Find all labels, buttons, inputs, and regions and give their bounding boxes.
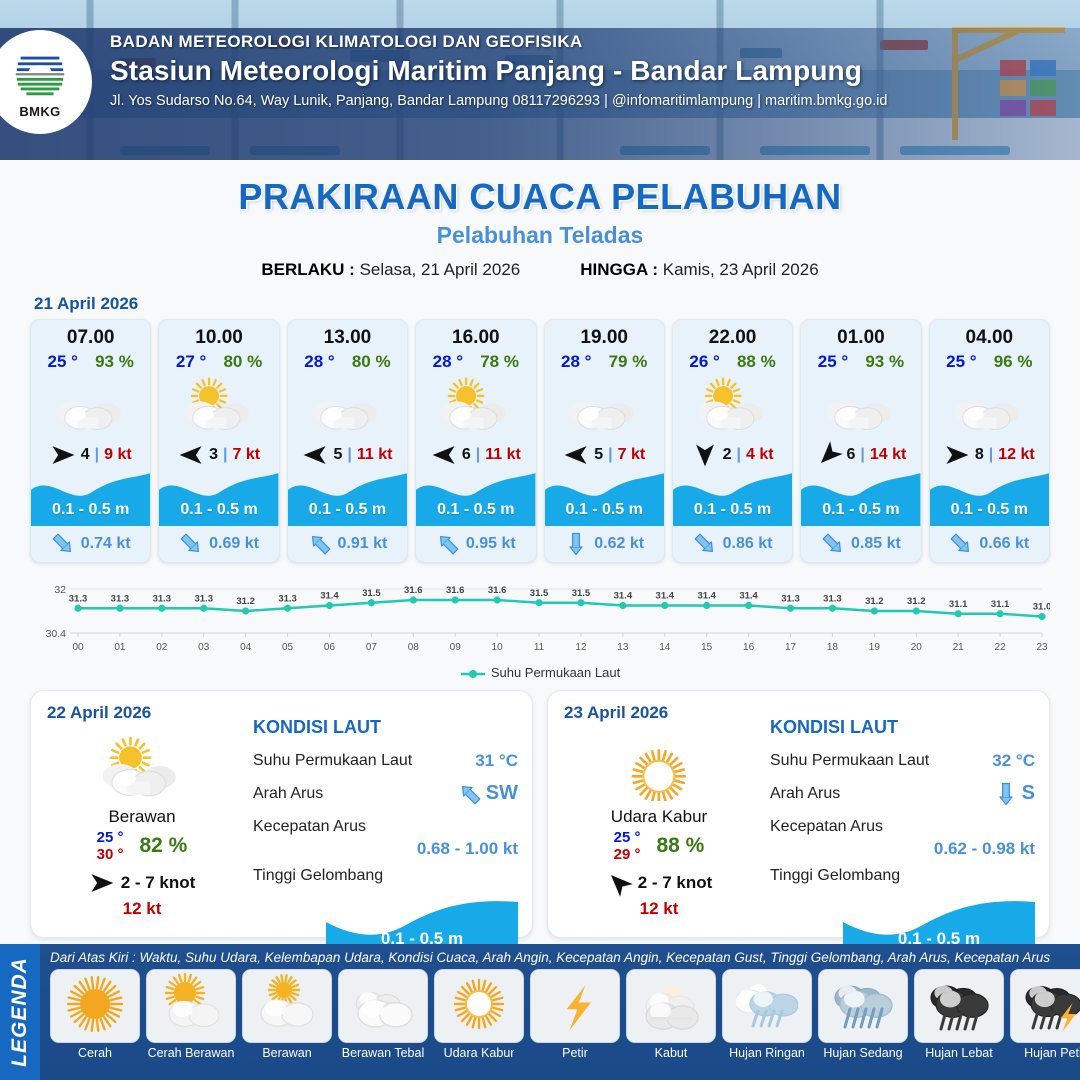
card-humidity: 93 % xyxy=(95,352,134,372)
card-time: 16.00 xyxy=(416,320,535,349)
panel-gust: 12 kt xyxy=(47,899,237,919)
panel-summary: Berawan 25 ° 30 ° 82 % 2 - 7 knot 12 kt xyxy=(47,731,237,919)
card-gust-speed: 7 kt xyxy=(618,446,646,464)
card-current-speed: 0.69 kt xyxy=(209,535,259,553)
card-wave-area: 0.1 - 0.5 m xyxy=(930,472,1049,526)
sst-data-point xyxy=(158,605,165,612)
sst-data-label: 31.3 xyxy=(153,593,172,604)
panel-temp-humidity-row: 25 ° 30 ° 82 % xyxy=(47,829,237,864)
legend-item: Cerah Berawan xyxy=(146,969,236,1060)
sst-data-point xyxy=(326,602,333,609)
card-gust-speed: 4 kt xyxy=(746,446,774,464)
valid-to-label: HINGGA : xyxy=(580,260,658,279)
card-values: 25 ° 93 % xyxy=(801,349,920,372)
card-wind-speed: 6 xyxy=(847,446,856,464)
weather-icon-cloudy xyxy=(49,376,133,434)
legend-item-icon-box xyxy=(626,969,716,1043)
sst-data-point xyxy=(116,605,123,612)
sst-data-label: 31.3 xyxy=(111,593,130,604)
panel-sst-value: 32 °C xyxy=(992,751,1035,771)
weather-icon-partly-cloudy xyxy=(177,376,261,434)
card-wind-row: 6 | 14 kt xyxy=(801,438,920,472)
card-current-speed: 0.66 kt xyxy=(979,535,1029,553)
panel-current-speed-value-row: 0.68 - 1.00 kt xyxy=(253,839,518,859)
page-header: BMKG BADAN METEOROLOGI KLIMATOLOGI DAN G… xyxy=(0,0,1080,160)
card-wind-speed: 5 xyxy=(594,446,603,464)
card-wave-height: 0.1 - 0.5 m xyxy=(416,501,535,519)
sst-data-point xyxy=(74,605,81,612)
card-wave-area: 0.1 - 0.5 m xyxy=(288,472,407,526)
sst-data-point xyxy=(577,599,584,606)
station-contact: Jl. Yos Sudarso No.64, Way Lunik, Panjan… xyxy=(110,93,888,109)
panel-temperatures: 25 ° 29 ° xyxy=(614,829,641,864)
panel-section-title: KONDISI LAUT xyxy=(770,717,1035,738)
card-wave-area: 0.1 - 0.5 m xyxy=(159,472,278,526)
card-wind-speed: 6 xyxy=(462,446,471,464)
card-weather-icon xyxy=(930,372,1049,438)
x-axis-tick: 14 xyxy=(659,642,671,653)
card-current-row: 0.86 kt xyxy=(673,526,792,562)
card-humidity: 88 % xyxy=(737,352,776,372)
valid-from-value: Selasa, 21 April 2026 xyxy=(360,260,521,279)
x-axis-tick: 18 xyxy=(827,642,839,653)
agency-name: BADAN METEOROLOGI KLIMATOLOGI DAN GEOFIS… xyxy=(110,32,888,52)
card-humidity: 79 % xyxy=(609,352,648,372)
sst-data-point xyxy=(996,610,1003,617)
legend-item-icon-box xyxy=(722,969,812,1043)
separator: | xyxy=(608,446,612,464)
legend-line-marker-icon xyxy=(460,668,486,680)
legend-icon-clouds xyxy=(352,973,414,1040)
legend-item: Hujan Sedang xyxy=(818,969,908,1060)
card-current-speed: 0.91 kt xyxy=(338,535,388,553)
sst-data-label: 31.2 xyxy=(907,596,926,607)
card-weather-icon xyxy=(288,372,407,438)
panel-current-speed-value-row: 0.62 - 0.98 kt xyxy=(770,839,1035,859)
forecast-card[interactable]: 19.00 28 ° 79 % 5 | 7 kt 0.1 - 0.5 m 0.6… xyxy=(544,319,665,563)
legend-item-icon-box xyxy=(242,969,332,1043)
weather-icon-cloudy xyxy=(819,376,903,434)
legend-icon-rain-light xyxy=(736,973,798,1040)
sst-line xyxy=(78,600,1042,617)
card-wind-row: 8 | 12 kt xyxy=(930,438,1049,472)
forecast-date-label: 21 April 2026 xyxy=(34,294,1080,314)
wind-direction-arrow-icon xyxy=(431,442,457,468)
card-air-temperature: 27 ° xyxy=(176,352,206,372)
card-wind-speed: 3 xyxy=(209,446,218,464)
legend-icon-sun xyxy=(64,973,126,1040)
sst-data-label: 31.0 xyxy=(1033,602,1050,613)
forecast-card[interactable]: 10.00 27 ° 80 % 3 | 7 kt 0.1 - 0.5 m 0.6… xyxy=(158,319,279,563)
card-time: 13.00 xyxy=(288,320,407,349)
y-axis-tick-min: 30.4 xyxy=(46,628,67,640)
card-time: 01.00 xyxy=(801,320,920,349)
separator: | xyxy=(860,446,864,464)
separator: | xyxy=(736,446,740,464)
legend-item-icon-box xyxy=(818,969,908,1043)
legend-item-list: Cerah Cerah Berawan Berawan Berawan Teba… xyxy=(50,969,1080,1060)
card-humidity: 80 % xyxy=(352,352,391,372)
panel-current-speed-label: Kecepatan Arus xyxy=(253,818,366,836)
y-axis-tick-max: 32 xyxy=(54,584,66,596)
card-wind-speed: 5 xyxy=(333,446,342,464)
current-direction-arrow-icon xyxy=(816,527,850,561)
panel-sea-conditions: KONDISI LAUT Suhu Permukaan Laut 32 °C A… xyxy=(770,717,1035,892)
card-current-speed: 0.86 kt xyxy=(723,535,773,553)
panel-section-title: KONDISI LAUT xyxy=(253,717,518,738)
panel-current-direction-value: SW xyxy=(486,782,518,805)
x-axis-tick: 05 xyxy=(282,642,294,653)
card-wind-row: 5 | 7 kt xyxy=(545,438,664,472)
card-air-temperature: 25 ° xyxy=(818,352,848,372)
validity-row: BERLAKU : Selasa, 21 April 2026 HINGGA :… xyxy=(0,260,1080,280)
legend-item-icon-box xyxy=(434,969,524,1043)
card-current-row: 0.91 kt xyxy=(288,526,407,562)
weather-icon-partly-cloudy xyxy=(434,376,518,434)
legend-icon-cloud-sun-small xyxy=(256,973,318,1040)
legend-item-label: Hujan Ringan xyxy=(722,1046,812,1060)
forecast-card[interactable]: 16.00 28 ° 78 % 6 | 11 kt 0.1 - 0.5 m 0.… xyxy=(415,319,536,563)
card-weather-icon xyxy=(416,372,535,438)
panel-current-direction-value-group: SW xyxy=(458,782,518,806)
sst-data-label: 31.3 xyxy=(69,593,88,604)
sst-data-point xyxy=(200,605,207,612)
legend-item-label: Udara Kabur xyxy=(434,1046,524,1060)
valid-to: HINGGA : Kamis, 23 April 2026 xyxy=(580,260,818,280)
legend-icon-bolt xyxy=(544,973,606,1040)
card-gust-speed: 7 kt xyxy=(232,446,260,464)
current-direction-arrow-icon xyxy=(303,527,337,561)
panel-weather-icon xyxy=(564,731,754,805)
panel-wind-row: 2 - 7 knot xyxy=(47,870,237,896)
sst-data-label: 31.1 xyxy=(949,599,968,610)
card-humidity: 96 % xyxy=(994,352,1033,372)
card-wind-row: 4 | 9 kt xyxy=(31,438,150,472)
sst-data-label: 31.4 xyxy=(656,591,675,602)
forecast-card-list: 07.00 25 ° 93 % 4 | 9 kt 0.1 - 0.5 m 0.7… xyxy=(0,319,1080,563)
legend-item-label: Hujan Sedang xyxy=(818,1046,908,1060)
sst-data-label: 31.3 xyxy=(278,593,297,604)
sst-data-label: 31.6 xyxy=(488,585,507,596)
legend-item-label: Cerah Berawan xyxy=(146,1046,236,1060)
card-gust-speed: 12 kt xyxy=(998,446,1034,464)
card-gust-speed: 11 kt xyxy=(357,446,393,464)
legend-note: Dari Atas Kiri : Waktu, Suhu Udara, Kele… xyxy=(50,950,1080,965)
day-panel-list: 22 April 2026 Berawan 25 ° 30 ° 82 % 2 -… xyxy=(0,680,1080,938)
card-gust-speed: 14 kt xyxy=(870,446,906,464)
legend-item-icon-box xyxy=(914,969,1004,1043)
title-block: PRAKIRAAN CUACA PELABUHAN Pelabuhan Tela… xyxy=(0,160,1080,280)
card-wind-row: 3 | 7 kt xyxy=(159,438,278,472)
legend-strip-title: LEGENDA xyxy=(8,957,32,1067)
legend-item: Berawan Tebal xyxy=(338,969,428,1060)
x-axis-tick: 04 xyxy=(240,642,252,653)
panel-sst-row: Suhu Permukaan Laut 32 °C xyxy=(770,744,1035,777)
panel-sea-conditions: KONDISI LAUT Suhu Permukaan Laut 31 °C A… xyxy=(253,717,518,892)
current-direction-arrow-icon xyxy=(453,777,487,811)
x-axis-tick: 23 xyxy=(1036,642,1048,653)
separator: | xyxy=(347,446,351,464)
legend-item-label: Kabut xyxy=(626,1046,716,1060)
card-time: 22.00 xyxy=(673,320,792,349)
sst-data-point xyxy=(829,605,836,612)
panel-wave-row: Tinggi Gelombang xyxy=(253,859,518,892)
forecast-card[interactable]: 04.00 25 ° 96 % 8 | 12 kt 0.1 - 0.5 m 0.… xyxy=(929,319,1050,563)
current-direction-arrow-icon xyxy=(431,527,465,561)
legend-item: Hujan Petir xyxy=(1010,969,1080,1060)
wind-direction-arrow-icon xyxy=(178,442,204,468)
sst-data-label: 31.1 xyxy=(991,599,1010,610)
legend-strip: LEGENDA xyxy=(0,944,40,1080)
sst-data-point xyxy=(242,607,249,614)
panel-humidity: 88 % xyxy=(656,834,704,858)
separator: | xyxy=(223,446,227,464)
panel-humidity: 82 % xyxy=(139,834,187,858)
sst-data-label: 31.5 xyxy=(362,588,381,599)
panel-temp-max: 30 ° xyxy=(97,846,124,863)
sst-data-point xyxy=(955,610,962,617)
separator: | xyxy=(95,446,99,464)
card-wind-speed: 4 xyxy=(81,446,90,464)
card-wave-height: 0.1 - 0.5 m xyxy=(545,501,664,519)
card-weather-icon xyxy=(801,372,920,438)
sst-data-label: 31.5 xyxy=(530,588,549,599)
forecast-card[interactable]: 07.00 25 ° 93 % 4 | 9 kt 0.1 - 0.5 m 0.7… xyxy=(30,319,151,563)
sst-data-label: 31.4 xyxy=(614,591,633,602)
current-direction-arrow-icon xyxy=(944,527,978,561)
panel-current-speed-value: 0.62 - 0.98 kt xyxy=(934,839,1035,859)
card-current-speed: 0.74 kt xyxy=(81,535,131,553)
sst-data-label: 31.3 xyxy=(194,593,213,604)
x-axis-tick: 01 xyxy=(114,642,126,653)
sst-data-label: 31.6 xyxy=(404,585,423,596)
sst-chart-plot: 3230.40001020304050607080910111213141516… xyxy=(30,573,1050,655)
x-axis-tick: 20 xyxy=(911,642,923,653)
panel-gust: 12 kt xyxy=(564,899,754,919)
weather-icon-cloudy xyxy=(947,376,1031,434)
valid-from-label: BERLAKU : xyxy=(261,260,355,279)
bmkg-logo-text: BMKG xyxy=(19,104,60,119)
header-text-block: BADAN METEOROLOGI KLIMATOLOGI DAN GEOFIS… xyxy=(110,32,888,109)
sst-data-label: 31.4 xyxy=(320,591,339,602)
card-humidity: 78 % xyxy=(480,352,519,372)
card-air-temperature: 26 ° xyxy=(689,352,719,372)
legend-item-label: Petir xyxy=(530,1046,620,1060)
panel-temp-min: 25 ° xyxy=(614,829,641,846)
x-axis-tick: 15 xyxy=(701,642,713,653)
panel-wave-label: Tinggi Gelombang xyxy=(770,867,900,885)
card-wind-row: 2 | 4 kt xyxy=(673,438,792,472)
card-values: 28 ° 80 % xyxy=(288,349,407,372)
wind-direction-arrow-icon xyxy=(563,442,589,468)
x-axis-tick: 03 xyxy=(198,642,210,653)
card-current-speed: 0.62 kt xyxy=(594,535,644,553)
panel-current-direction-value-group: S xyxy=(994,782,1035,806)
legend-item-label: Hujan Lebat xyxy=(914,1046,1004,1060)
x-axis-tick: 10 xyxy=(492,642,504,653)
legend-icon-sun-cloud xyxy=(160,973,222,1040)
sst-data-label: 31.3 xyxy=(781,593,800,604)
valid-to-value: Kamis, 23 April 2026 xyxy=(663,260,819,279)
day-forecast-panel[interactable]: 23 April 2026 Udara Kabur 25 ° 29 ° 88 %… xyxy=(547,690,1050,938)
card-time: 04.00 xyxy=(930,320,1049,349)
sst-data-point xyxy=(1038,613,1045,620)
legend-item-icon-box xyxy=(146,969,236,1043)
legend-item: Udara Kabur xyxy=(434,969,524,1060)
current-direction-arrow-icon xyxy=(46,527,80,561)
card-air-temperature: 28 ° xyxy=(561,352,591,372)
card-current-row: 0.62 kt xyxy=(545,526,664,562)
day-forecast-panel[interactable]: 22 April 2026 Berawan 25 ° 30 ° 82 % 2 -… xyxy=(30,690,533,938)
wind-direction-arrow-icon xyxy=(810,437,847,474)
panel-wave-row: Tinggi Gelombang xyxy=(770,859,1035,892)
card-humidity: 93 % xyxy=(865,352,904,372)
panel-current-speed-value: 0.68 - 1.00 kt xyxy=(417,839,518,859)
panel-temp-humidity-row: 25 ° 29 ° 88 % xyxy=(564,829,754,864)
x-axis-tick: 06 xyxy=(324,642,336,653)
current-direction-arrow-icon xyxy=(564,532,588,556)
sst-data-label: 31.2 xyxy=(865,596,884,607)
sst-data-point xyxy=(745,602,752,609)
current-direction-arrow-icon xyxy=(688,527,722,561)
panel-sst-label: Suhu Permukaan Laut xyxy=(770,752,929,770)
separator: | xyxy=(989,446,993,464)
sst-data-point xyxy=(913,607,920,614)
card-values: 28 ° 78 % xyxy=(416,349,535,372)
x-axis-tick: 19 xyxy=(869,642,881,653)
panel-summary: Udara Kabur 25 ° 29 ° 88 % 2 - 7 knot 12… xyxy=(564,731,754,919)
card-wave-area: 0.1 - 0.5 m xyxy=(545,472,664,526)
panel-wind-range: 2 - 7 knot xyxy=(121,873,196,893)
card-wave-height: 0.1 - 0.5 m xyxy=(673,501,792,519)
card-gust-speed: 9 kt xyxy=(104,446,132,464)
card-weather-icon xyxy=(545,372,664,438)
card-humidity: 80 % xyxy=(223,352,262,372)
wind-direction-arrow-icon xyxy=(944,442,970,468)
card-weather-icon xyxy=(31,372,150,438)
card-time: 19.00 xyxy=(545,320,664,349)
card-air-temperature: 25 ° xyxy=(48,352,78,372)
x-axis-tick: 07 xyxy=(366,642,378,653)
legend-item: Petir xyxy=(530,969,620,1060)
x-axis-tick: 08 xyxy=(408,642,420,653)
weather-icon-partly-cloudy xyxy=(94,735,190,801)
card-wave-height: 0.1 - 0.5 m xyxy=(159,501,278,519)
station-name: Stasiun Meteorologi Maritim Panjang - Ba… xyxy=(110,55,888,87)
card-wind-speed: 8 xyxy=(975,446,984,464)
card-air-temperature: 28 ° xyxy=(304,352,334,372)
separator: | xyxy=(476,446,480,464)
legend-icon-thunderstorm xyxy=(1024,973,1080,1040)
card-wave-area: 0.1 - 0.5 m xyxy=(31,472,150,526)
sst-data-point xyxy=(871,607,878,614)
panel-sst-label: Suhu Permukaan Laut xyxy=(253,752,412,770)
forecast-card[interactable]: 13.00 28 ° 80 % 5 | 11 kt 0.1 - 0.5 m 0.… xyxy=(287,319,408,563)
panel-temperatures: 25 ° 30 ° xyxy=(97,829,124,864)
card-current-row: 0.66 kt xyxy=(930,526,1049,562)
card-values: 25 ° 96 % xyxy=(930,349,1049,372)
weather-icon-partly-cloudy xyxy=(691,376,775,434)
legend-item-label: Berawan xyxy=(242,1046,332,1060)
bmkg-logo-icon xyxy=(11,45,69,103)
x-axis-tick: 12 xyxy=(575,642,587,653)
legend-icon-rain-moderate xyxy=(832,973,894,1040)
card-time: 10.00 xyxy=(159,320,278,349)
legend-item: Kabut xyxy=(626,969,716,1060)
sst-data-point xyxy=(452,596,459,603)
legend-item-icon-box xyxy=(338,969,428,1043)
card-values: 28 ° 79 % xyxy=(545,349,664,372)
card-current-speed: 0.85 kt xyxy=(851,535,901,553)
x-axis-tick: 21 xyxy=(953,642,965,653)
card-weather-icon xyxy=(673,372,792,438)
sst-data-point xyxy=(787,605,794,612)
forecast-card[interactable]: 22.00 26 ° 88 % 2 | 4 kt 0.1 - 0.5 m 0.8… xyxy=(672,319,793,563)
sst-data-point xyxy=(494,596,501,603)
wind-direction-arrow-icon xyxy=(600,864,637,901)
panel-current-direction-value: S xyxy=(1022,782,1035,805)
panel-temp-min: 25 ° xyxy=(97,829,124,846)
card-values: 27 ° 80 % xyxy=(159,349,278,372)
panel-sst-row: Suhu Permukaan Laut 31 °C xyxy=(253,744,518,777)
panel-sst-value: 31 °C xyxy=(475,751,518,771)
sst-data-label: 31.5 xyxy=(572,588,591,599)
weather-icon-cloudy xyxy=(305,376,389,434)
sst-legend-label: Suhu Permukaan Laut xyxy=(491,665,620,680)
card-values: 26 ° 88 % xyxy=(673,349,792,372)
panel-wind-row: 2 - 7 knot xyxy=(564,870,754,896)
x-axis-tick: 17 xyxy=(785,642,797,653)
card-current-row: 0.69 kt xyxy=(159,526,278,562)
sst-chart-legend: Suhu Permukaan Laut xyxy=(0,665,1080,680)
wind-direction-arrow-icon xyxy=(50,442,76,468)
legend-body: Dari Atas Kiri : Waktu, Suhu Udara, Kele… xyxy=(40,944,1080,1080)
card-wave-height: 0.1 - 0.5 m xyxy=(31,501,150,519)
x-axis-tick: 00 xyxy=(72,642,84,653)
sst-data-point xyxy=(661,602,668,609)
card-current-row: 0.85 kt xyxy=(801,526,920,562)
x-axis-tick: 02 xyxy=(156,642,168,653)
panel-wave-label: Tinggi Gelombang xyxy=(253,867,383,885)
page-subtitle: Pelabuhan Teladas xyxy=(0,222,1080,249)
legend-section: LEGENDA Dari Atas Kiri : Waktu, Suhu Uda… xyxy=(0,944,1080,1080)
legend-item-icon-box xyxy=(530,969,620,1043)
current-direction-arrow-icon xyxy=(994,782,1018,806)
card-wave-area: 0.1 - 0.5 m xyxy=(673,472,792,526)
card-current-row: 0.95 kt xyxy=(416,526,535,562)
panel-current-direction-label: Arah Arus xyxy=(770,785,840,803)
wind-direction-arrow-icon xyxy=(89,870,115,896)
card-air-temperature: 28 ° xyxy=(433,352,463,372)
legend-item: Hujan Lebat xyxy=(914,969,1004,1060)
sst-chart: 3230.40001020304050607080910111213141516… xyxy=(0,563,1080,663)
card-time: 07.00 xyxy=(31,320,150,349)
card-gust-speed: 11 kt xyxy=(485,446,521,464)
sst-data-label: 31.4 xyxy=(739,591,758,602)
legend-item: Cerah xyxy=(50,969,140,1060)
sst-data-point xyxy=(368,599,375,606)
forecast-card[interactable]: 01.00 25 ° 93 % 6 | 14 kt 0.1 - 0.5 m 0.… xyxy=(800,319,921,563)
sst-data-point xyxy=(703,602,710,609)
sst-data-point xyxy=(284,605,291,612)
weather-icon-cloudy xyxy=(562,376,646,434)
x-axis-tick: 22 xyxy=(995,642,1007,653)
panel-current-direction-row: Arah Arus S xyxy=(770,777,1035,810)
panel-current-direction-label: Arah Arus xyxy=(253,785,323,803)
card-wave-height: 0.1 - 0.5 m xyxy=(801,501,920,519)
valid-from: BERLAKU : Selasa, 21 April 2026 xyxy=(261,260,520,280)
card-wave-area: 0.1 - 0.5 m xyxy=(801,472,920,526)
